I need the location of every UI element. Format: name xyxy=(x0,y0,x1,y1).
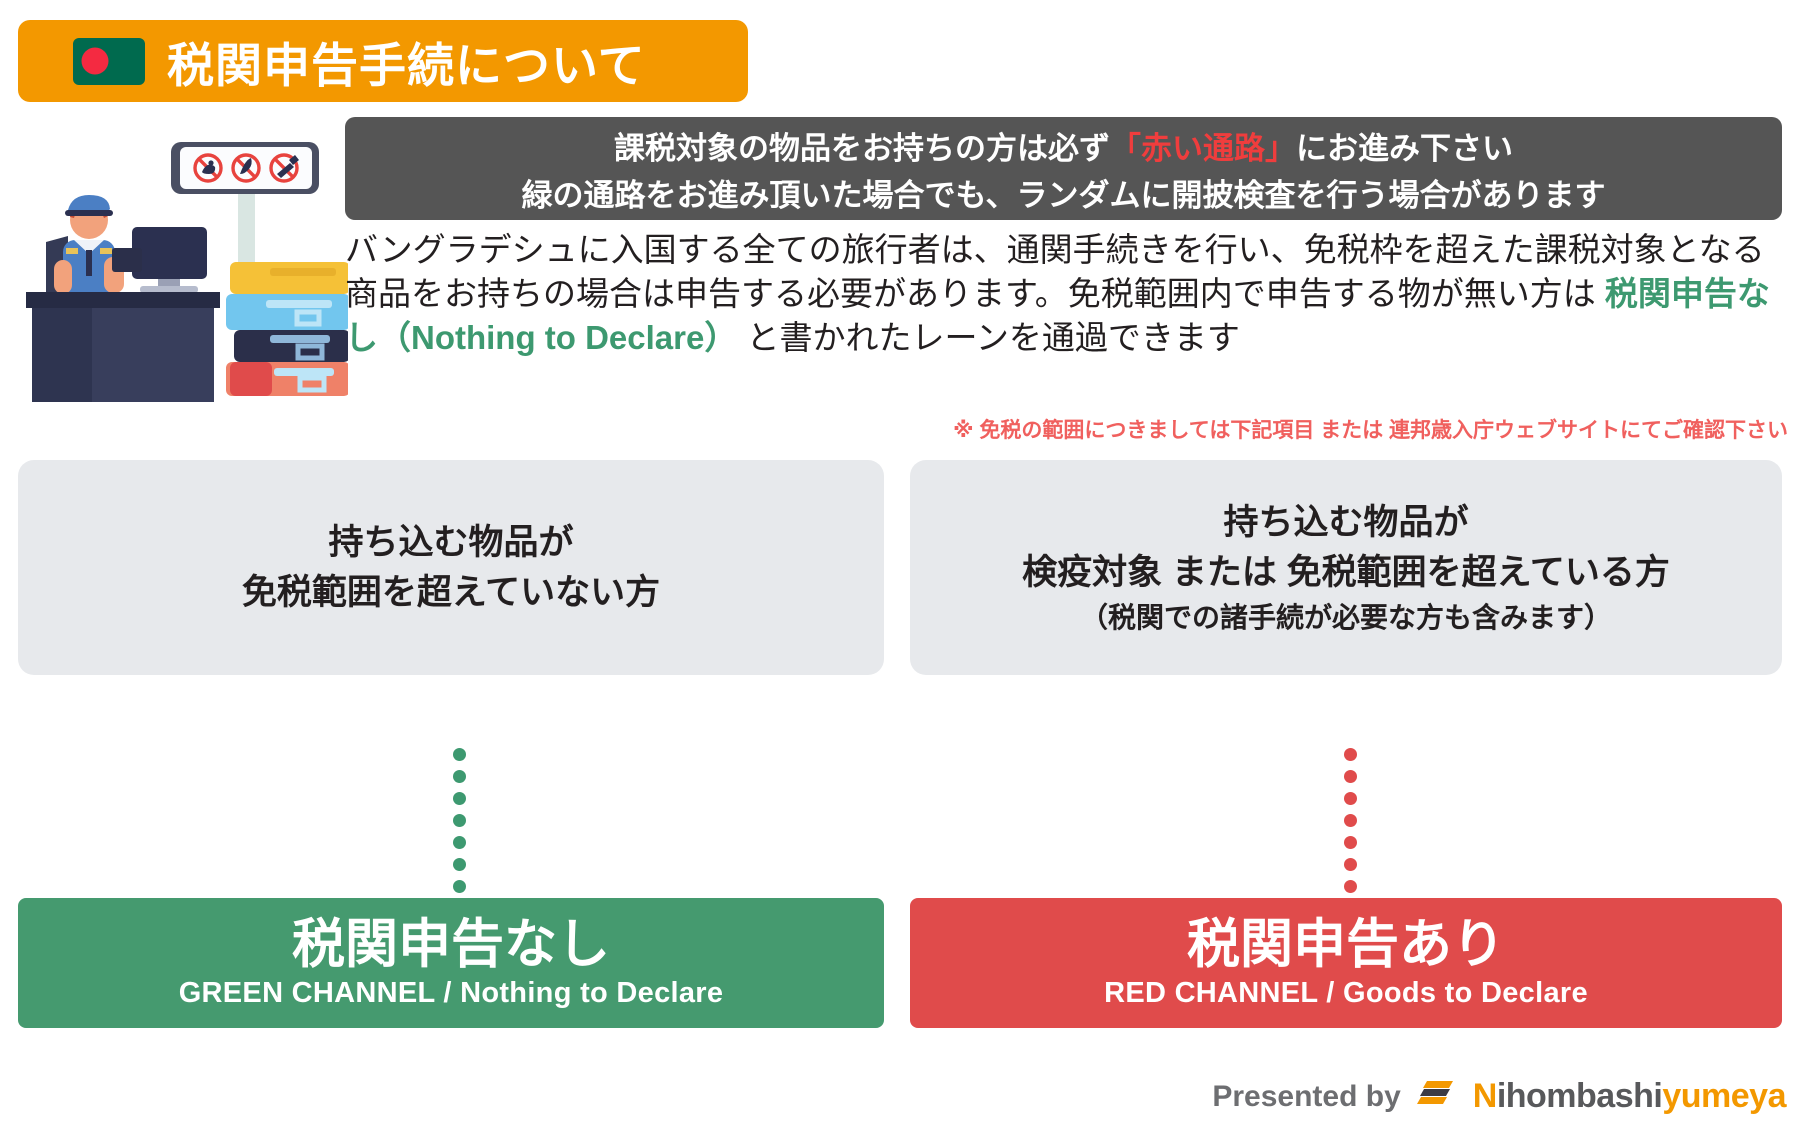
page-title: 税関申告手続について xyxy=(167,27,646,96)
green-channel-box: 税関申告なし GREEN CHANNEL / Nothing to Declar… xyxy=(18,898,884,1028)
notice-banner: 課税対象の物品をお持ちの方は必ず「赤い通路」にお進み下さい 緑の通路をお進み頂い… xyxy=(345,117,1782,220)
body-segment-2: と書かれたレーンを通過できます xyxy=(737,319,1240,356)
nihombashiyumeya-logo-icon xyxy=(1417,1077,1457,1116)
green-channel-jp-label: 税関申告なし xyxy=(292,915,610,975)
footnote-text: ※ 免税の範囲につきましては下記項目 または 連邦歳入庁ウェブサイトにてご確認下… xyxy=(953,414,1788,444)
bangladesh-flag-icon xyxy=(73,38,145,85)
header-badge: 税関申告手続について xyxy=(18,20,748,102)
notice-line-2: 緑の通路をお進み頂いた場合でも、ランダムに開披検査を行う場合があります xyxy=(521,170,1605,215)
body-segment-1: バングラデシュに入国する全ての旅行者は、通関手続きを行い、免税枠を超えた課税対象… xyxy=(345,231,1765,312)
condition-card-green: 持ち込む物品が 免税範囲を超えていない方 xyxy=(18,460,884,675)
notice-line-1: 課税対象の物品をお持ちの方は必ず「赤い通路」にお進み下さい xyxy=(614,123,1513,168)
brand-part-1: N xyxy=(1473,1077,1497,1115)
condition-card-green-line-2: 免税範囲を超えていない方 xyxy=(242,568,660,618)
condition-card-green-line-1: 持ち込む物品が xyxy=(328,518,573,568)
condition-card-red: 持ち込む物品が 検疫対象 または 免税範囲を超えている方 （税関での諸手続が必要… xyxy=(910,460,1782,675)
brand-part-3: yumeya xyxy=(1662,1077,1786,1115)
flag-disc xyxy=(81,48,108,75)
arrow-to-red-channel xyxy=(1337,748,1363,884)
red-channel-en-label: RED CHANNEL / Goods to Declare xyxy=(1104,975,1588,1011)
footer-credit: Presented by Nihombashiyumeya xyxy=(1212,1077,1786,1116)
notice-line-1-after: にお進み下さい xyxy=(1296,131,1513,166)
notice-line-1-before: 課税対象の物品をお持ちの方は必ず xyxy=(614,131,1110,166)
red-channel-box: 税関申告あり RED CHANNEL / Goods to Declare xyxy=(910,898,1782,1028)
green-channel-en-label: GREEN CHANNEL / Nothing to Declare xyxy=(179,975,724,1011)
arrow-to-green-channel xyxy=(446,748,472,884)
customs-officer-desk-illustration xyxy=(8,122,348,407)
body-paragraph: バングラデシュに入国する全ての旅行者は、通関手続きを行い、免税枠を超えた課税対象… xyxy=(345,228,1790,360)
condition-card-red-line-3: （税関での諸手続が必要な方も含みます） xyxy=(1080,598,1612,638)
presented-by-label: Presented by xyxy=(1212,1080,1400,1114)
condition-card-red-line-2: 検疫対象 または 免税範囲を超えている方 xyxy=(1022,548,1670,598)
brand-wordmark: Nihombashiyumeya xyxy=(1473,1077,1786,1116)
brand-part-2: ihombashi xyxy=(1497,1077,1663,1115)
red-channel-jp-label: 税関申告あり xyxy=(1187,915,1505,975)
notice-line-1-highlight: 「赤い通路」 xyxy=(1110,131,1296,166)
condition-card-red-line-1: 持ち込む物品が xyxy=(1223,498,1468,548)
